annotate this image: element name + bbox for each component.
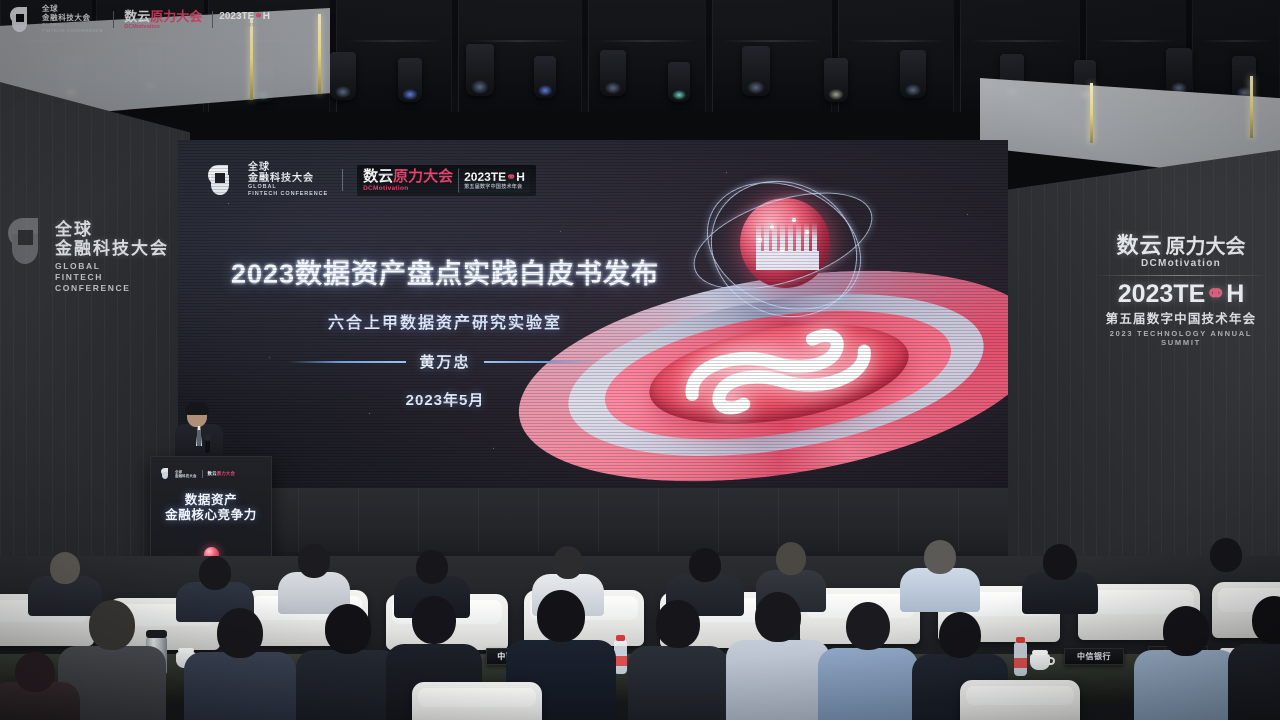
tea-cup [1030, 654, 1050, 670]
left-wall-en-line2: FINTECH CONFERENCE [55, 272, 173, 294]
audience-member [1134, 606, 1238, 720]
right-wall-brand-cn-tail: 原力大会 [1166, 230, 1246, 259]
audience-member [296, 604, 400, 720]
led-logo-divider [342, 169, 343, 191]
stage-light [466, 44, 494, 96]
audience-seat [412, 682, 542, 720]
watermark-event-cn: 数云原力大会 [124, 10, 202, 24]
fintech-logo-mark-icon [10, 7, 32, 32]
right-wall-tech-year: 2023 [1118, 280, 1174, 308]
audience-area: 中国进出口银行 中信银行 中信银行 [0, 556, 1280, 720]
water-bottle [1014, 642, 1027, 676]
watermark-event-en: DCMotivation [124, 24, 202, 30]
right-wall-divider [1094, 275, 1268, 276]
orbiting-sphere [688, 170, 878, 335]
led-tech-badge: 2023TE⚭H 第五届数字中国技术年会 [458, 168, 530, 193]
stage-light [1166, 48, 1192, 96]
right-wall-branding: 数云 原力大会 DCMotivation 2023TE⚭H 第五届数字中国技术年… [1090, 228, 1272, 347]
watermark-org-en-line2: FINTECH CONFERENCE [42, 28, 103, 34]
watermark-divider [113, 11, 114, 28]
fintech-logo-mark-icon [161, 468, 170, 479]
presenter-figure [175, 404, 223, 462]
right-wall-summit-en: 2023 TECHNOLOGY ANNUAL SUMMIT [1090, 329, 1272, 347]
wall-light-strip [1250, 76, 1253, 138]
audience-seat [960, 680, 1080, 720]
presentation-subtitle: 六合上甲数据资产研究实验室 [230, 309, 660, 333]
stage-light [824, 58, 848, 102]
watermark-badge-year-row: 2023TE⚭H [219, 11, 270, 22]
podium-title: 数据资产 金融核心竞争力 [151, 493, 271, 523]
swirl-glyph-icon: ⚭ [254, 11, 262, 22]
orbit-ring [687, 156, 881, 343]
audience-member [726, 592, 830, 720]
stage-light [398, 58, 422, 102]
podium-title-line1: 数据资产 [151, 493, 271, 508]
audience-member [1022, 544, 1098, 610]
podium-logo-strip: 全球 金融科技大会 数云原力大会 [161, 468, 235, 479]
presenter-name: 黄万忠 [419, 351, 470, 372]
fintech-logo-mark-icon [8, 218, 48, 266]
audience-member [184, 608, 296, 720]
title-rule-right [484, 361, 602, 363]
right-wall-tech-word-tail: H [1226, 280, 1244, 308]
led-title-block: 2023数据资产盘点实践白皮书发布 六合上甲数据资产研究实验室 黄万忠 2023… [230, 252, 660, 410]
audience-member [818, 602, 918, 720]
right-wall-summit-cn: 第五届数字中国技术年会 [1090, 308, 1272, 327]
nameplate-label: 中信银行 [1077, 651, 1111, 662]
broadcast-watermark: 全球 金融科技大会 GLOBAL FINTECH CONFERENCE 数云原力… [10, 5, 270, 34]
microphone-icon [205, 438, 210, 453]
right-wall-tech-word: TE [1173, 280, 1205, 308]
led-header-logos: 全球 金融科技大会 GLOBAL FINTECH CONFERENCE 数云原力… [208, 162, 536, 198]
left-wall-cn-line1: 全球 [55, 220, 173, 239]
led-badge-sub: 第五届数字中国技术年会 [464, 183, 525, 190]
podium-org-cn-line2: 金融科技大会 [175, 474, 197, 478]
fintech-logo-mark-icon [208, 165, 234, 195]
audience-member [628, 600, 728, 720]
swirl-glyph-icon: ⚭ [1205, 280, 1226, 308]
conference-photo: 全球 金融科技大会 GLOBAL FINTECH CONFERENCE 数云 原… [0, 0, 1280, 720]
stage-light [330, 52, 356, 100]
watermark-badge-sub: 第五届数字中国技术年会 [219, 22, 270, 28]
wall-light-strip [1090, 83, 1093, 143]
led-org-cn-line1: 全球 [248, 162, 328, 173]
audience-member [0, 652, 80, 720]
swirl-glyph-icon: ⚭ [506, 170, 516, 184]
watermark-org-cn-line2: 金融科技大会 [42, 14, 103, 23]
presentation-title: 2023数据资产盘点实践白皮书发布 [230, 252, 660, 291]
led-event-cn: 数云原力大会 [363, 169, 453, 185]
stage-light [534, 56, 556, 98]
led-event-en: DCMotivation [363, 185, 453, 192]
led-org-cn-line2: 金融科技大会 [248, 173, 328, 184]
led-org-en-line1: GLOBAL [248, 184, 328, 191]
right-wall-brand-cn: 数云 [1116, 228, 1162, 260]
presentation-date: 2023年5月 [230, 389, 660, 410]
watermark-tech-badge: 2023TE⚭H 第五届数字中国技术年会 [212, 11, 270, 28]
title-rule-left [288, 361, 406, 363]
led-org-en-line2: FINTECH CONFERENCE [248, 191, 328, 198]
stage-light [668, 62, 690, 102]
led-badge-year-row: 2023TE⚭H [464, 171, 525, 183]
podium-event-logo: 数云原力大会 [208, 471, 236, 477]
left-wall-en-line1: GLOBAL [55, 261, 173, 272]
stage-light [900, 50, 926, 98]
main-led-screen: 全球 金融科技大会 GLOBAL FINTECH CONFERENCE 数云原力… [178, 140, 1008, 490]
stage-light [600, 50, 626, 96]
left-wall-cn-line2: 金融科技大会 [55, 239, 173, 258]
left-wall-branding: 全球 金融科技大会 GLOBAL FINTECH CONFERENCE [8, 218, 173, 294]
led-event-logo: 数云原力大会 DCMotivation 2023TE⚭H 第五届数字中国技术年会 [357, 165, 536, 196]
audience-member [278, 544, 350, 610]
right-wall-tech-line: 2023TE⚭H [1090, 281, 1272, 307]
podium-title-line2: 金融核心竞争力 [151, 508, 271, 523]
table-nameplate: 中信银行 [1064, 648, 1124, 665]
audience-member [900, 540, 980, 608]
audience-member [1228, 596, 1280, 720]
wall-light-strip [318, 14, 321, 94]
stage-light [742, 46, 770, 96]
